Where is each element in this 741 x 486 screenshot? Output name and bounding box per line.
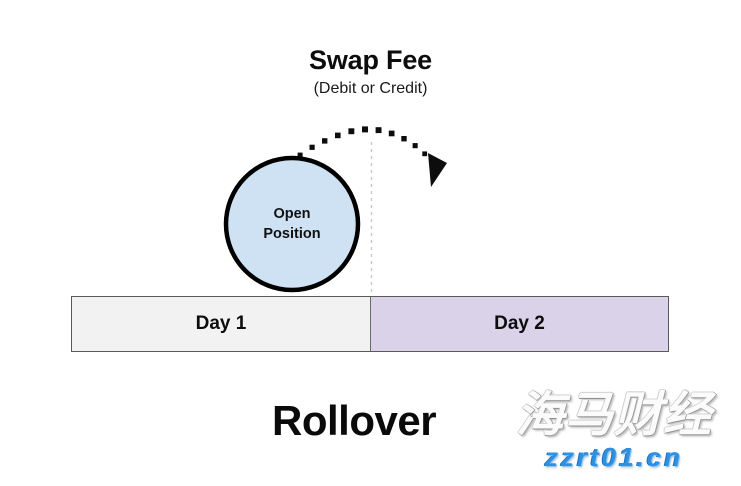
arrowhead-icon <box>428 153 447 187</box>
diagram-canvas: Swap Fee (Debit or Credit) Open Position <box>0 0 741 486</box>
timeline-bar: Day 1 Day 2 <box>71 296 669 352</box>
open-position-circle <box>226 158 358 290</box>
dotted-rollover-arc <box>298 126 427 157</box>
timeline-cell-day2: Day 2 <box>371 296 669 352</box>
timeline-cell-day1: Day 1 <box>71 296 371 352</box>
caption-rollover: Rollover <box>272 399 436 443</box>
